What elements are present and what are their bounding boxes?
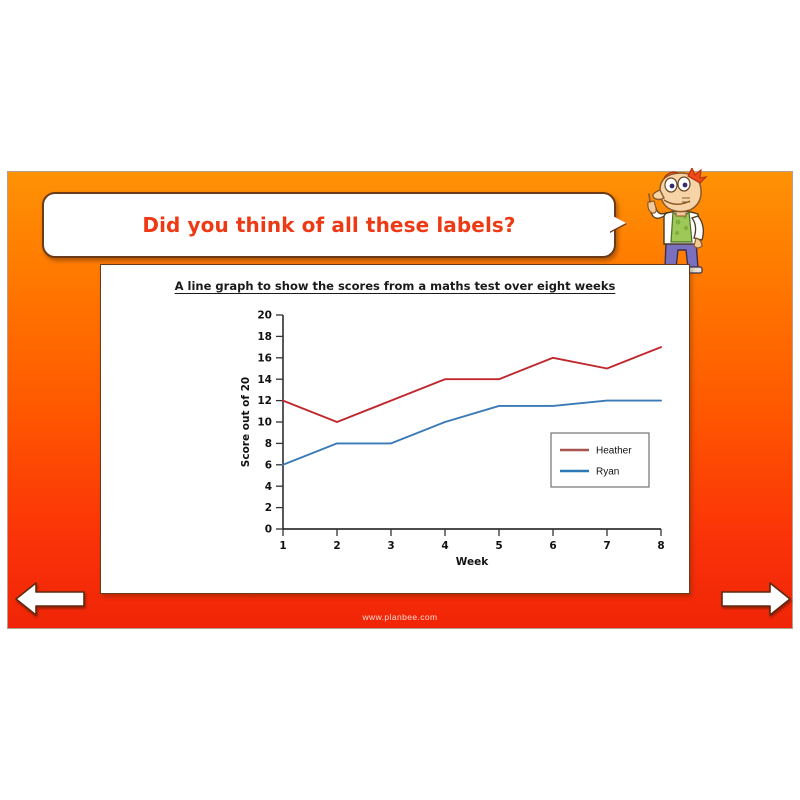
speech-bubble-tail: [609, 214, 626, 232]
x-axis-title: Week: [456, 556, 489, 568]
x-tick-label: 7: [603, 540, 610, 552]
site-footer: www.planbee.com: [8, 612, 792, 622]
legend-label-heather: Heather: [596, 446, 632, 457]
chart-title: A line graph to show the scores from a m…: [101, 279, 689, 293]
x-tick-label: 1: [279, 540, 286, 552]
chart-panel: A line graph to show the scores from a m…: [100, 264, 690, 594]
line-chart: 02468101214161820Score out of 2012345678…: [219, 309, 669, 571]
legend-box: [551, 433, 649, 487]
series-line-heather: [283, 347, 661, 422]
y-tick-label: 8: [265, 438, 272, 450]
speech-bubble-text: Did you think of all these labels?: [44, 194, 614, 256]
y-tick-label: 18: [257, 331, 272, 343]
speech-bubble: Did you think of all these labels?: [42, 192, 616, 258]
y-tick-label: 20: [257, 310, 272, 322]
y-tick-label: 6: [265, 459, 272, 471]
y-axis-title: Score out of 20: [240, 377, 252, 467]
presentation-slide: Did you think of all these labels?: [8, 172, 792, 628]
y-tick-label: 14: [257, 374, 272, 386]
y-tick-label: 16: [257, 352, 272, 364]
y-tick-label: 12: [257, 395, 272, 407]
x-tick-label: 2: [333, 540, 340, 552]
x-tick-label: 6: [549, 540, 556, 552]
x-tick-label: 8: [657, 540, 664, 552]
legend-label-ryan: Ryan: [596, 467, 619, 478]
y-tick-label: 4: [265, 481, 272, 493]
x-tick-label: 4: [441, 540, 448, 552]
y-tick-label: 0: [265, 524, 272, 536]
x-tick-label: 5: [495, 540, 502, 552]
x-tick-label: 3: [387, 540, 394, 552]
y-tick-label: 10: [257, 417, 272, 429]
y-tick-label: 2: [265, 502, 272, 514]
slide-viewer: Did you think of all these labels?: [0, 0, 800, 800]
